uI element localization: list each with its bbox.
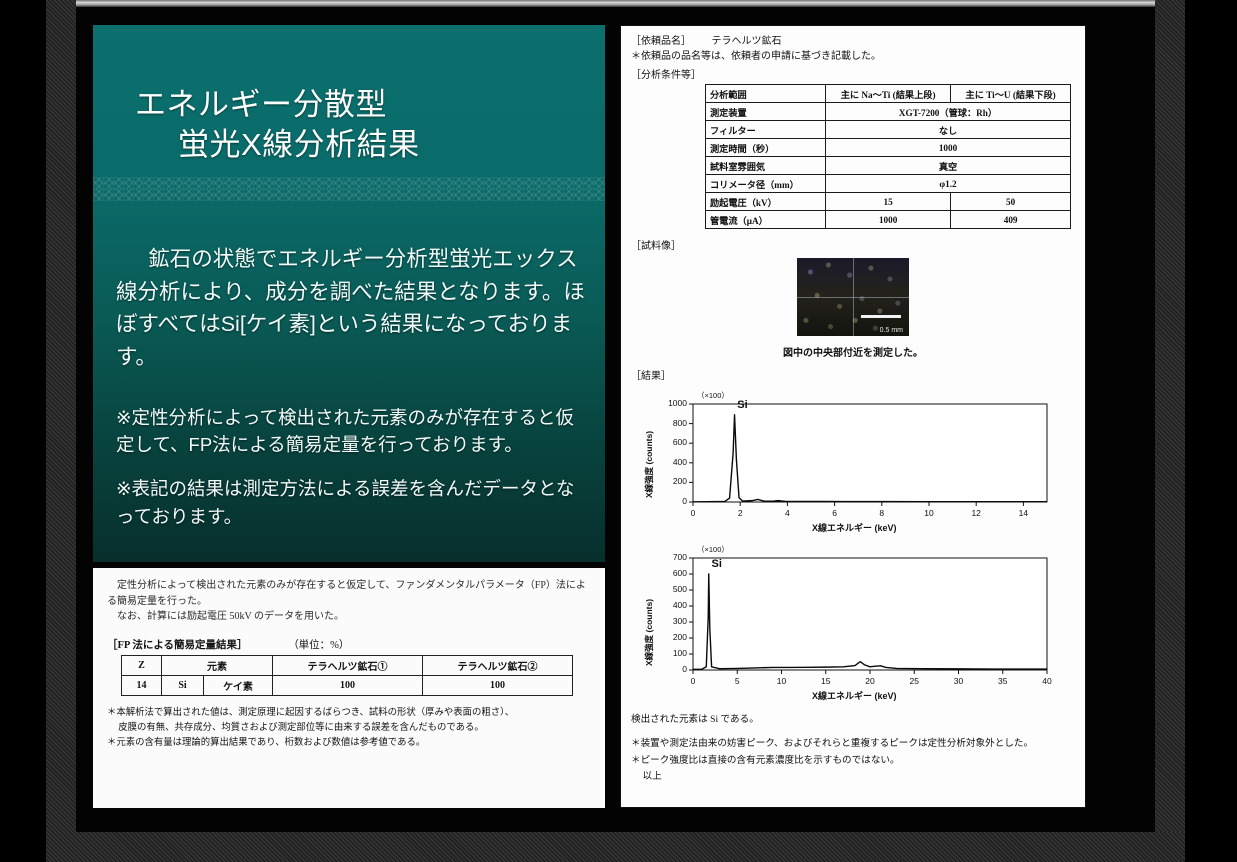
x-tick-label: 14 — [1009, 508, 1037, 518]
x-tick-label: 35 — [989, 676, 1017, 686]
x-tick-label: 25 — [900, 676, 928, 686]
table-header-row: Z 元素 テラヘルツ鉱石① テラヘルツ鉱石② — [122, 655, 573, 675]
col-z: Z — [122, 655, 162, 675]
axis-multiplier-label: （×100） — [697, 390, 729, 401]
fp-results-table: Z 元素 テラヘルツ鉱石① テラヘルツ鉱石② 14 Si ケイ素 100 100 — [121, 655, 573, 696]
condition-label: コリメータ径（mm） — [706, 175, 826, 193]
analysis-report-document: ［依頼品名］ テラヘルツ鉱石 ＊依頼品の品名等は、依頼者の申請に基づき記載した。… — [620, 25, 1086, 808]
table-row: 測定装置XGT-7200（管球：Rh） — [706, 103, 1071, 121]
y-tick-label: 800 — [651, 418, 687, 428]
spectrum-chart-lower: 01002003004005006007000510152025303540（×… — [631, 542, 1061, 704]
x-axis-label: X線エネルギー (keV) — [812, 521, 897, 534]
x-tick-label: 30 — [945, 676, 973, 686]
condition-value-left: 主に Na～Ti (結果上段) — [826, 85, 951, 103]
y-tick-label: 400 — [651, 600, 687, 610]
y-tick-label: 600 — [651, 437, 687, 447]
table-row: コリメータ径（mm）φ1.2 — [706, 175, 1071, 193]
report-tail-notes: 検出された元素は Si である。 ＊装置や測定法由来の妨害ピーク、およびそれらと… — [631, 712, 1075, 785]
condition-label: 分析範囲 — [706, 85, 826, 103]
requested-item-note: ＊依頼品の品名等は、依頼者の申請に基づき記載した。 — [631, 49, 1075, 64]
chevron-divider — [93, 177, 605, 201]
conclusion-text: 検出された元素は Si である。 — [631, 712, 1075, 728]
fp-footnote-2: ＊元素の含有量は理論的算出結果であり、桁数および数値は参考値である。 — [107, 736, 591, 751]
y-tick-label: 300 — [651, 616, 687, 626]
spectrum-chart-upper: 0200400600800100002468101214（×100）SiX線強度… — [631, 388, 1061, 536]
condition-label: 測定装置 — [706, 103, 826, 121]
condition-value: XGT-7200（管球：Rh） — [826, 103, 1071, 121]
y-tick-label: 700 — [651, 552, 687, 562]
textured-frame-bottom — [46, 832, 1185, 862]
y-tick-label: 0 — [651, 664, 687, 674]
fp-table-title: ［FP 法による簡易定量結果］ — [107, 640, 248, 651]
outer-bezel-right — [1185, 0, 1237, 862]
x-tick-label: 2 — [726, 508, 754, 518]
specimen-section-label: ［試料像］ — [631, 237, 1075, 252]
peak-label: Si — [737, 399, 747, 411]
table-row: 分析範囲主に Na～Ti (結果上段)主に Ti～U (結果下段) — [706, 85, 1071, 103]
fp-table-title-row: ［FP 法による簡易定量結果］ （単位：%） — [107, 637, 591, 652]
condition-label: フィルター — [706, 121, 826, 139]
y-axis-label: X線強度 (counts) — [643, 431, 655, 498]
conditions-section-label: ［分析条件等］ — [631, 66, 1075, 81]
x-tick-label: 5 — [723, 676, 751, 686]
y-tick-label: 0 — [651, 496, 687, 506]
fp-intro-line-1: 定性分析によって検出された元素のみが存在すると仮定して、ファンダメンタルパラメー… — [107, 578, 591, 609]
requested-item-value: テラヘルツ鉱石 — [694, 36, 782, 47]
table-row: フィルターなし — [706, 121, 1071, 139]
slide-note-2: ※表記の結果は測定方法による誤差を含んだデータとなっております。 — [116, 475, 590, 531]
specimen-photo: 0.5 mm — [797, 258, 909, 336]
table-row: 試料室雰囲気真空 — [706, 157, 1071, 175]
x-tick-label: 20 — [856, 676, 884, 686]
condition-value: φ1.2 — [826, 175, 1071, 193]
fp-report-document: 定性分析によって検出された元素のみが存在すると仮定して、ファンダメンタルパラメー… — [93, 568, 605, 808]
axis-multiplier-label: （×100） — [697, 544, 729, 555]
presentation-slide: エネルギー分散型 蛍光X線分析結果 鉱石の状態でエネルギー分析型蛍光エックス線分… — [93, 25, 605, 562]
analysis-conditions-table: 分析範囲主に Na～Ti (結果上段)主に Ti～U (結果下段)測定装置XGT… — [705, 84, 1071, 229]
top-highlight-strip — [76, 0, 1155, 7]
outer-bezel-left — [0, 0, 46, 862]
scale-bar-label: 0.5 mm — [880, 327, 903, 334]
y-tick-label: 500 — [651, 584, 687, 594]
cell-symbol: Si — [162, 675, 204, 695]
x-tick-label: 0 — [679, 676, 707, 686]
y-axis-label: X線強度 (counts) — [643, 599, 655, 666]
fp-footnote-1: ＊本解析法で算出された値は、測定原理に起因するばらつき、試料の形状（厚みや表面の… — [107, 706, 591, 721]
condition-label: 管電流（μA） — [706, 211, 826, 229]
tail-note-1: ＊装置や測定法由来の妨害ピーク、およびそれらと重複するピークは定性分析対象外とし… — [631, 736, 1075, 752]
cell-name: ケイ素 — [204, 675, 273, 695]
cell-value-1: 100 — [273, 675, 423, 695]
screenshot-root: エネルギー分散型 蛍光X線分析結果 鉱石の状態でエネルギー分析型蛍光エックス線分… — [0, 0, 1237, 862]
y-tick-label: 400 — [651, 457, 687, 467]
textured-frame-left — [46, 0, 76, 862]
x-tick-label: 0 — [679, 508, 707, 518]
cell-value-2: 100 — [423, 675, 573, 695]
col-sample-2: テラヘルツ鉱石② — [423, 655, 573, 675]
slide-body: 鉱石の状態でエネルギー分析型蛍光エックス線分析により、成分を調べた結果となります… — [116, 243, 590, 547]
specimen-caption: 図中の中央部付近を測定した。 — [631, 344, 1075, 359]
requested-item-label: ［依頼品名］ — [631, 36, 691, 47]
x-tick-label: 15 — [812, 676, 840, 686]
requested-item-row: ［依頼品名］ テラヘルツ鉱石 — [631, 34, 1075, 49]
condition-label: 励起電圧（kV） — [706, 193, 826, 211]
condition-value: 1000 — [826, 139, 1071, 157]
fp-intro-line-2: なお、計算には励起電圧 50kV のデータを用いた。 — [107, 609, 591, 625]
fp-table-unit: （単位：%） — [250, 640, 349, 651]
y-tick-label: 100 — [651, 648, 687, 658]
slide-title: エネルギー分散型 蛍光X線分析結果 — [93, 85, 605, 166]
x-tick-label: 10 — [768, 676, 796, 686]
condition-value: なし — [826, 121, 1071, 139]
condition-label: 試料室雰囲気 — [706, 157, 826, 175]
condition-value-left: 15 — [826, 193, 951, 211]
crosshair-horizontal — [797, 297, 909, 298]
col-sample-1: テラヘルツ鉱石① — [273, 655, 423, 675]
fp-footnote-1-cont: 皮膜の有無、共存成分、均質さおよび測定部位等に由来する誤差を含んだものである。 — [107, 721, 591, 736]
condition-value-right: 主に Ti～U (結果下段) — [951, 85, 1071, 103]
condition-value-left: 1000 — [826, 211, 951, 229]
textured-frame-right — [1155, 0, 1185, 862]
slide-paragraph-main: 鉱石の状態でエネルギー分析型蛍光エックス線分析により、成分を調べた結果となります… — [116, 243, 590, 374]
x-tick-label: 6 — [821, 508, 849, 518]
x-axis-label: X線エネルギー (keV) — [812, 689, 897, 702]
table-row: 測定時間（秒）1000 — [706, 139, 1071, 157]
condition-value-right: 409 — [951, 211, 1071, 229]
slide-title-line1: エネルギー分散型 — [93, 85, 605, 125]
results-section-label: ［結果］ — [631, 367, 1075, 382]
tail-note-2: ＊ピーク強度比は直接の含有元素濃度比を示すものではない。 — [631, 753, 1075, 769]
x-tick-label: 10 — [915, 508, 943, 518]
slide-title-line2: 蛍光X線分析結果 — [93, 125, 605, 165]
condition-value: 真空 — [826, 157, 1071, 175]
y-tick-label: 200 — [651, 476, 687, 486]
specimen-image-block: 0.5 mm 図中の中央部付近を測定した。 — [631, 258, 1075, 359]
condition-label: 測定時間（秒） — [706, 139, 826, 157]
col-element: 元素 — [162, 655, 273, 675]
x-tick-label: 4 — [773, 508, 801, 518]
x-tick-label: 40 — [1033, 676, 1061, 686]
tail-end: 以上 — [631, 769, 1075, 785]
x-tick-label: 8 — [868, 508, 896, 518]
slide-note-1: ※定性分析によって検出された元素のみが存在すると仮定して、FP法による簡易定量を… — [116, 404, 590, 460]
cell-z: 14 — [122, 675, 162, 695]
peak-label: Si — [711, 558, 721, 570]
y-tick-label: 600 — [651, 568, 687, 578]
table-row: 管電流（μA）1000409 — [706, 211, 1071, 229]
scale-bar — [861, 315, 901, 318]
table-row: 14 Si ケイ素 100 100 — [122, 675, 573, 695]
y-tick-label: 1000 — [651, 398, 687, 408]
x-tick-label: 12 — [962, 508, 990, 518]
fp-footnotes: ＊本解析法で算出された値は、測定原理に起因するばらつき、試料の形状（厚みや表面の… — [107, 706, 591, 751]
condition-value-right: 50 — [951, 193, 1071, 211]
y-tick-label: 200 — [651, 632, 687, 642]
table-row: 励起電圧（kV）1550 — [706, 193, 1071, 211]
